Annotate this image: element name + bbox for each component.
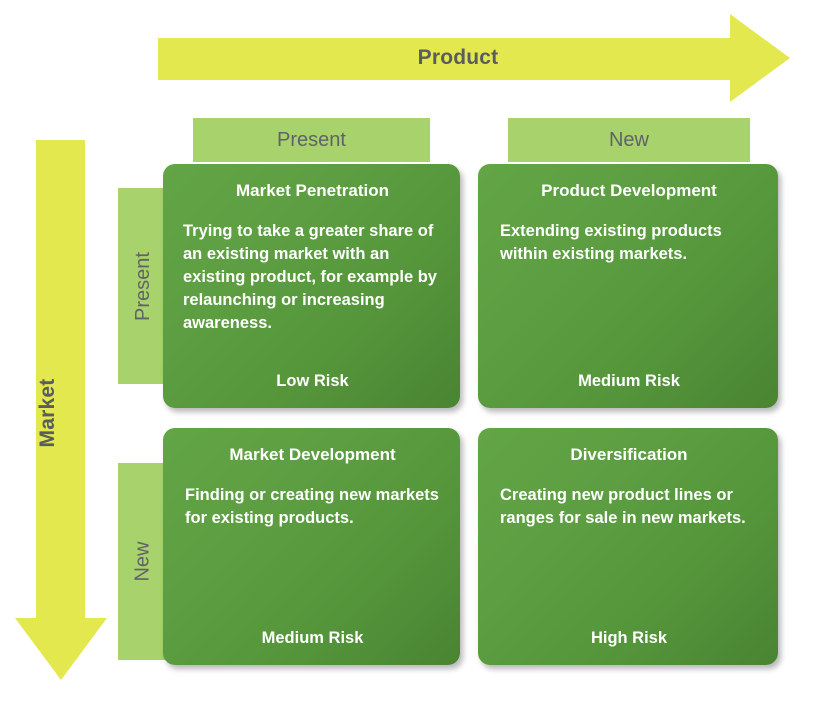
quadrant-diversification[interactable]: Diversification Creating new product lin… — [478, 428, 778, 665]
product-axis-label: Product — [158, 45, 758, 71]
row-header-present: Present — [118, 188, 168, 384]
quadrant-risk-label: High Risk — [498, 627, 760, 649]
market-axis-label: Market — [35, 348, 61, 478]
quadrant-title: Market Penetration — [183, 180, 442, 202]
quadrant-description: Extending existing products within exist… — [498, 220, 760, 370]
quadrant-market-penetration[interactable]: Market Penetration Trying to take a grea… — [163, 164, 460, 408]
quadrant-market-development[interactable]: Market Development Finding or creating n… — [163, 428, 460, 665]
column-header-new: New — [508, 118, 750, 162]
quadrant-description: Trying to take a greater share of an exi… — [183, 220, 442, 370]
column-header-present: Present — [193, 118, 430, 162]
column-header-present-label: Present — [277, 129, 346, 152]
quadrant-product-development[interactable]: Product Development Extending existing p… — [478, 164, 778, 408]
quadrant-risk-label: Medium Risk — [183, 627, 442, 649]
quadrant-title: Diversification — [498, 444, 760, 466]
ansoff-matrix-diagram: Product Market Present New Present New M… — [0, 0, 821, 715]
row-header-new-label: New — [131, 541, 154, 581]
arrow-down-icon — [13, 140, 109, 682]
row-header-new: New — [118, 463, 168, 660]
column-header-new-label: New — [609, 129, 649, 152]
quadrant-risk-label: Medium Risk — [498, 370, 760, 392]
quadrant-description: Finding or creating new markets for exis… — [183, 484, 442, 627]
quadrant-title: Product Development — [498, 180, 760, 202]
quadrant-description: Creating new product lines or ranges for… — [498, 484, 760, 627]
row-header-present-label: Present — [132, 252, 155, 321]
quadrant-title: Market Development — [183, 444, 442, 466]
quadrant-risk-label: Low Risk — [183, 370, 442, 392]
